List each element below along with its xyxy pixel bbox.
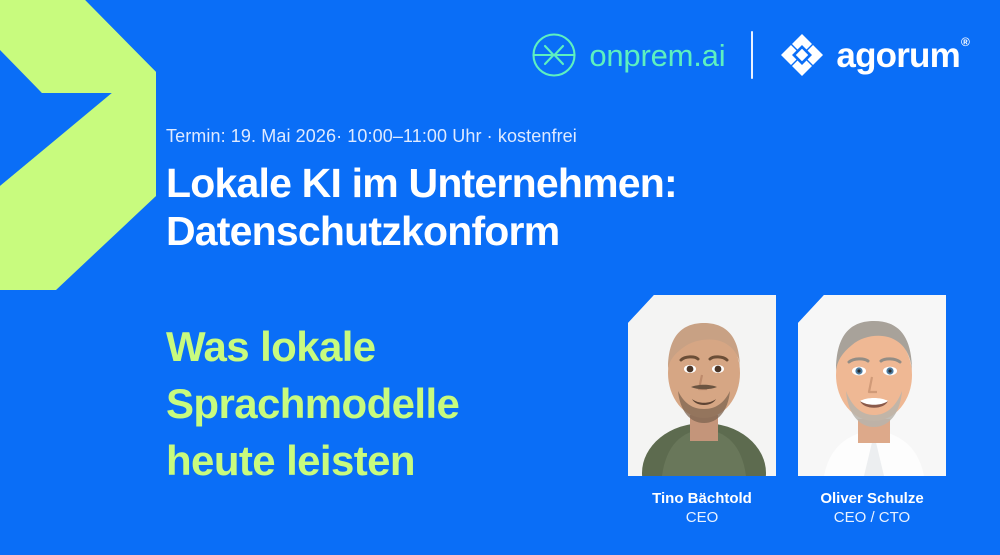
speaker-photo-frame — [628, 295, 776, 476]
agorum-diamond-icon — [779, 32, 825, 78]
agorum-logo[interactable]: agorum® — [779, 32, 968, 78]
speaker-role: CEO — [686, 508, 719, 527]
portrait-tino-baechtold — [628, 295, 776, 476]
headline-line-1: Lokale KI im Unternehmen: — [166, 160, 866, 208]
event-details-line: Termin: 19. Mai 2026· 10:00–11:00 Uhr · … — [166, 126, 866, 148]
subheadline-line-3: heute leisten — [166, 432, 626, 489]
speaker-card: Oliver Schulze CEO / CTO — [798, 295, 946, 527]
headline-line-2: Datenschutzkonform — [166, 208, 866, 256]
speaker-list: Tino Bächtold CEO — [628, 295, 946, 527]
speaker-role: CEO / CTO — [834, 508, 910, 527]
portrait-oliver-schulze — [798, 295, 946, 476]
speaker-card: Tino Bächtold CEO — [628, 295, 776, 527]
onprem-wordmark: onprem.ai — [589, 40, 725, 71]
agorum-wordmark-text: agorum — [836, 36, 960, 75]
speaker-name: Tino Bächtold — [652, 489, 752, 508]
onprem-logo[interactable]: onprem.ai — [531, 32, 725, 78]
webinar-promo-banner: onprem.ai agorum® Termin: 19. Mai 2026· … — [0, 0, 1000, 555]
headline-block: Termin: 19. Mai 2026· 10:00–11:00 Uhr · … — [166, 126, 866, 256]
subheadline-line-1: Was lokale — [166, 318, 626, 375]
speaker-name: Oliver Schulze — [820, 489, 923, 508]
logo-divider — [751, 31, 753, 79]
onprem-converge-circle-icon — [531, 32, 577, 78]
subheadline: Was lokale Sprachmodelle heute leisten — [166, 318, 626, 489]
green-chevron-icon — [0, 0, 170, 290]
agorum-wordmark: agorum® — [836, 38, 968, 73]
subheadline-line-2: Sprachmodelle — [166, 375, 626, 432]
registered-trademark-icon: ® — [961, 35, 969, 49]
logo-bar: onprem.ai agorum® — [531, 26, 968, 84]
page-title: Lokale KI im Unternehmen: Datenschutzkon… — [166, 160, 866, 256]
speaker-photo-frame — [798, 295, 946, 476]
